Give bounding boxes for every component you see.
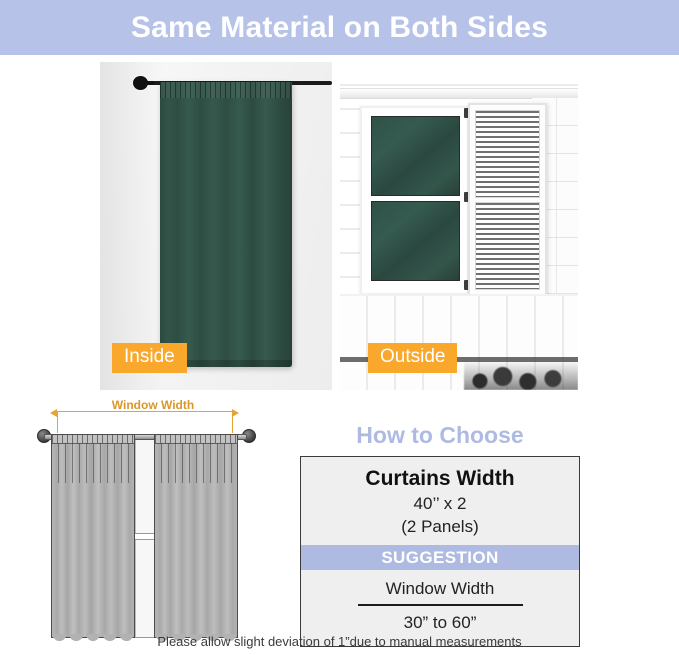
exterior-window-frame <box>360 106 469 295</box>
rod-finial-icon <box>133 76 148 90</box>
dimension-tick-left <box>57 411 58 433</box>
curtain-rod-pocket <box>160 82 292 98</box>
photo-outside: Outside <box>340 62 578 390</box>
tag-inside: Inside <box>112 343 187 373</box>
shrubbery <box>464 360 578 390</box>
photo-comparison-row: Inside Outside <box>0 58 679 390</box>
banner-title: Same Material on Both Sides <box>131 13 548 43</box>
panel-right-pleats <box>155 443 237 483</box>
dimension-tick-right <box>232 411 233 433</box>
curtains-width-value: 40’’ x 2 <box>301 492 579 515</box>
green-curtain-panel <box>160 82 292 367</box>
shutter-louvers-bottom <box>475 202 540 290</box>
tag-outside: Outside <box>368 343 457 373</box>
header-banner: Same Material on Both Sides <box>0 0 679 55</box>
dimension-arrow-line <box>57 411 232 412</box>
louvered-shutter <box>468 103 547 300</box>
diagram-dimension-label: Window Width <box>26 398 280 412</box>
diagram-panel-right <box>154 434 238 638</box>
photo-inside: Inside <box>100 62 332 390</box>
window-width-range: 30” to 60” <box>301 611 579 634</box>
size-guide-box: Curtains Width 40’’ x 2 (2 Panels) SUGGE… <box>300 456 580 647</box>
window-pane-bottom <box>371 201 460 281</box>
diagram-panel-left <box>51 434 135 638</box>
window-width-label: Window Width <box>301 577 579 600</box>
curtains-width-label: Curtains Width <box>301 466 579 492</box>
panels-note: (2 Panels) <box>301 515 579 538</box>
window-width-diagram: Window Width <box>26 398 280 648</box>
how-to-choose-title: How to Choose <box>300 420 580 450</box>
divider-rule <box>358 604 523 606</box>
suggestion-band: SUGGESTION <box>301 545 579 570</box>
shutter-louvers-top <box>475 110 540 198</box>
how-to-choose-section: How to Choose Curtains Width 40’’ x 2 (2… <box>300 420 580 647</box>
wall-shadow <box>100 62 164 390</box>
panel-left-pleats <box>52 443 134 483</box>
window-pane-top <box>371 116 460 196</box>
footnote-text: Please allow slight deviation of 1”due t… <box>0 634 679 650</box>
